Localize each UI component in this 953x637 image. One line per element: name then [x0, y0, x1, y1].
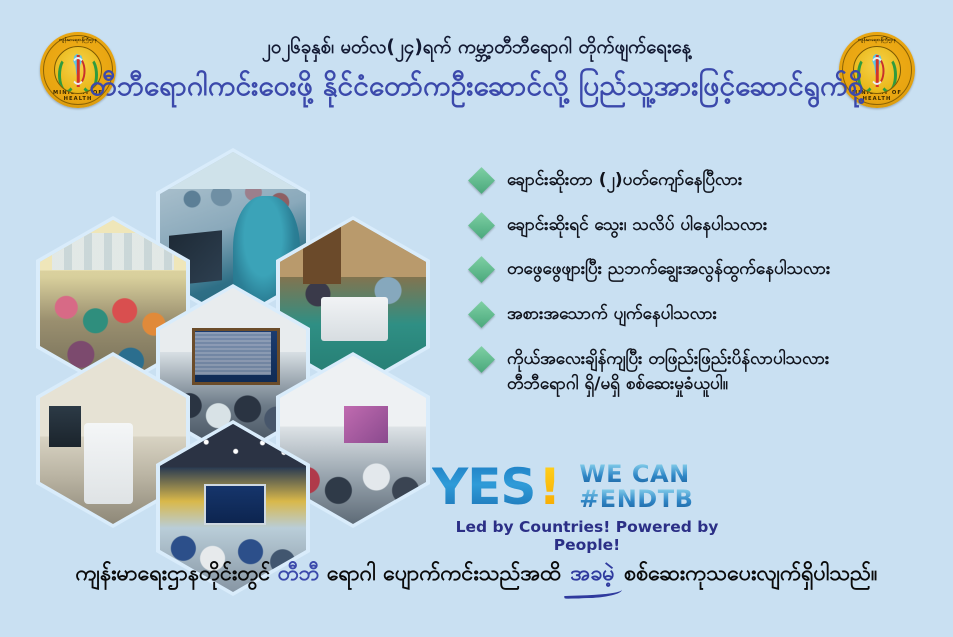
we-can-text: WE CAN — [579, 462, 693, 487]
we-can-endtb-wordmark: WE CAN #ENDTB — [579, 462, 693, 512]
symptom-text: ချောင်းဆိုးရင် သွေး၊ သလိပ် ပါနေပါသလား — [507, 213, 767, 238]
footer-free-text: အခမဲ့ — [570, 561, 614, 586]
end-tb-campaign-logo: YES ! WE CAN #ENDTB Led by Countries! Po… — [432, 462, 742, 554]
symptom-item: အစားအသောက် ပျက်နေပါသလား — [472, 302, 934, 327]
world-tb-day-date-line: ၂၀၂၆ခုနှစ်၊ မတ်လ(၂၄)ရက် ကမ္ဘာ့တီဘီရောဂါ … — [0, 36, 953, 59]
endtb-hashtag: #ENDTB — [579, 487, 693, 512]
poster-headline: တီဘီရောဂါကင်းဝေးဖို့ နိုင်ငံတော်ကဦးဆောင်… — [0, 69, 953, 103]
photo-collage — [18, 148, 448, 548]
diamond-bullet-icon — [468, 256, 495, 283]
symptom-list: ချောင်းဆိုးတာ (၂)ပတ်ကျော်နေပြီလား ချောင်… — [472, 168, 934, 398]
symptom-item: ကိုယ်အလေးချိန်ကျပြီး တဖြည်းဖြည်းပိန်လာပါ… — [472, 347, 934, 372]
symptom-text: ချောင်းဆိုးတာ (၂)ပတ်ကျော်နေပြီလား — [507, 168, 742, 193]
diamond-bullet-icon — [468, 301, 495, 328]
exclamation-mark: ! — [538, 462, 561, 512]
footer-part-2: ရောဂါ ပျောက်ကင်းသည်အထိ — [319, 561, 568, 586]
footer-part-3: စစ်ဆေးကုသပေးလျက်ရှိပါသည်။ — [617, 561, 878, 586]
swoosh-underline-icon — [564, 585, 623, 599]
symptom-item: ချောင်းဆိုးတာ (၂)ပတ်ကျော်နေပြီလား — [472, 168, 934, 193]
campaign-tagline: Led by Countries! Powered by People! — [432, 518, 742, 554]
symptom-item: ချောင်းဆိုးရင် သွေး၊ သလိပ် ပါနေပါသလား — [472, 213, 934, 238]
symptom-text: တဖွေဖွေဖျားပြီး ညဘက်ချွေးအလွန်ထွက်နေပါသလ… — [507, 257, 830, 282]
yes-wordmark: YES — [432, 462, 535, 512]
poster-canvas: ကျန်းမာရေးဝန်ကြီးဌာန MINISTRY OF HEALTH … — [0, 0, 953, 637]
symptom-closing-line: တီဘီရောဂါ ရှိ/မရှိ စစ်ဆေးမှုခံယူပါ။ — [507, 373, 934, 398]
diamond-bullet-icon — [468, 212, 495, 239]
footer-banner: ကျန်းမာရေးဌာနတိုင်းတွင် တီဘီ ရောဂါ ပျောက… — [0, 560, 953, 591]
poster-header: ၂၀၂၆ခုနှစ်၊ မတ်လ(၂၄)ရက် ကမ္ဘာ့တီဘီရောဂါ … — [0, 36, 953, 103]
symptom-text: အစားအသောက် ပျက်နေပါသလား — [507, 302, 717, 327]
symptom-text: ကိုယ်အလေးချိန်ကျပြီး တဖြည်းဖြည်းပိန်လာပါ… — [507, 347, 829, 372]
footer-highlight-tb: တီဘီ — [278, 561, 320, 586]
campaign-logo-row: YES ! WE CAN #ENDTB — [432, 462, 742, 512]
diamond-bullet-icon — [468, 346, 495, 373]
footer-part-1: ကျန်းမာရေးဌာနတိုင်းတွင် — [76, 561, 278, 586]
symptom-item: တဖွေဖွေဖျားပြီး ညဘက်ချွေးအလွန်ထွက်နေပါသလ… — [472, 257, 934, 282]
diamond-bullet-icon — [468, 167, 495, 194]
footer-highlight-free: အခမဲ့ — [568, 560, 616, 591]
